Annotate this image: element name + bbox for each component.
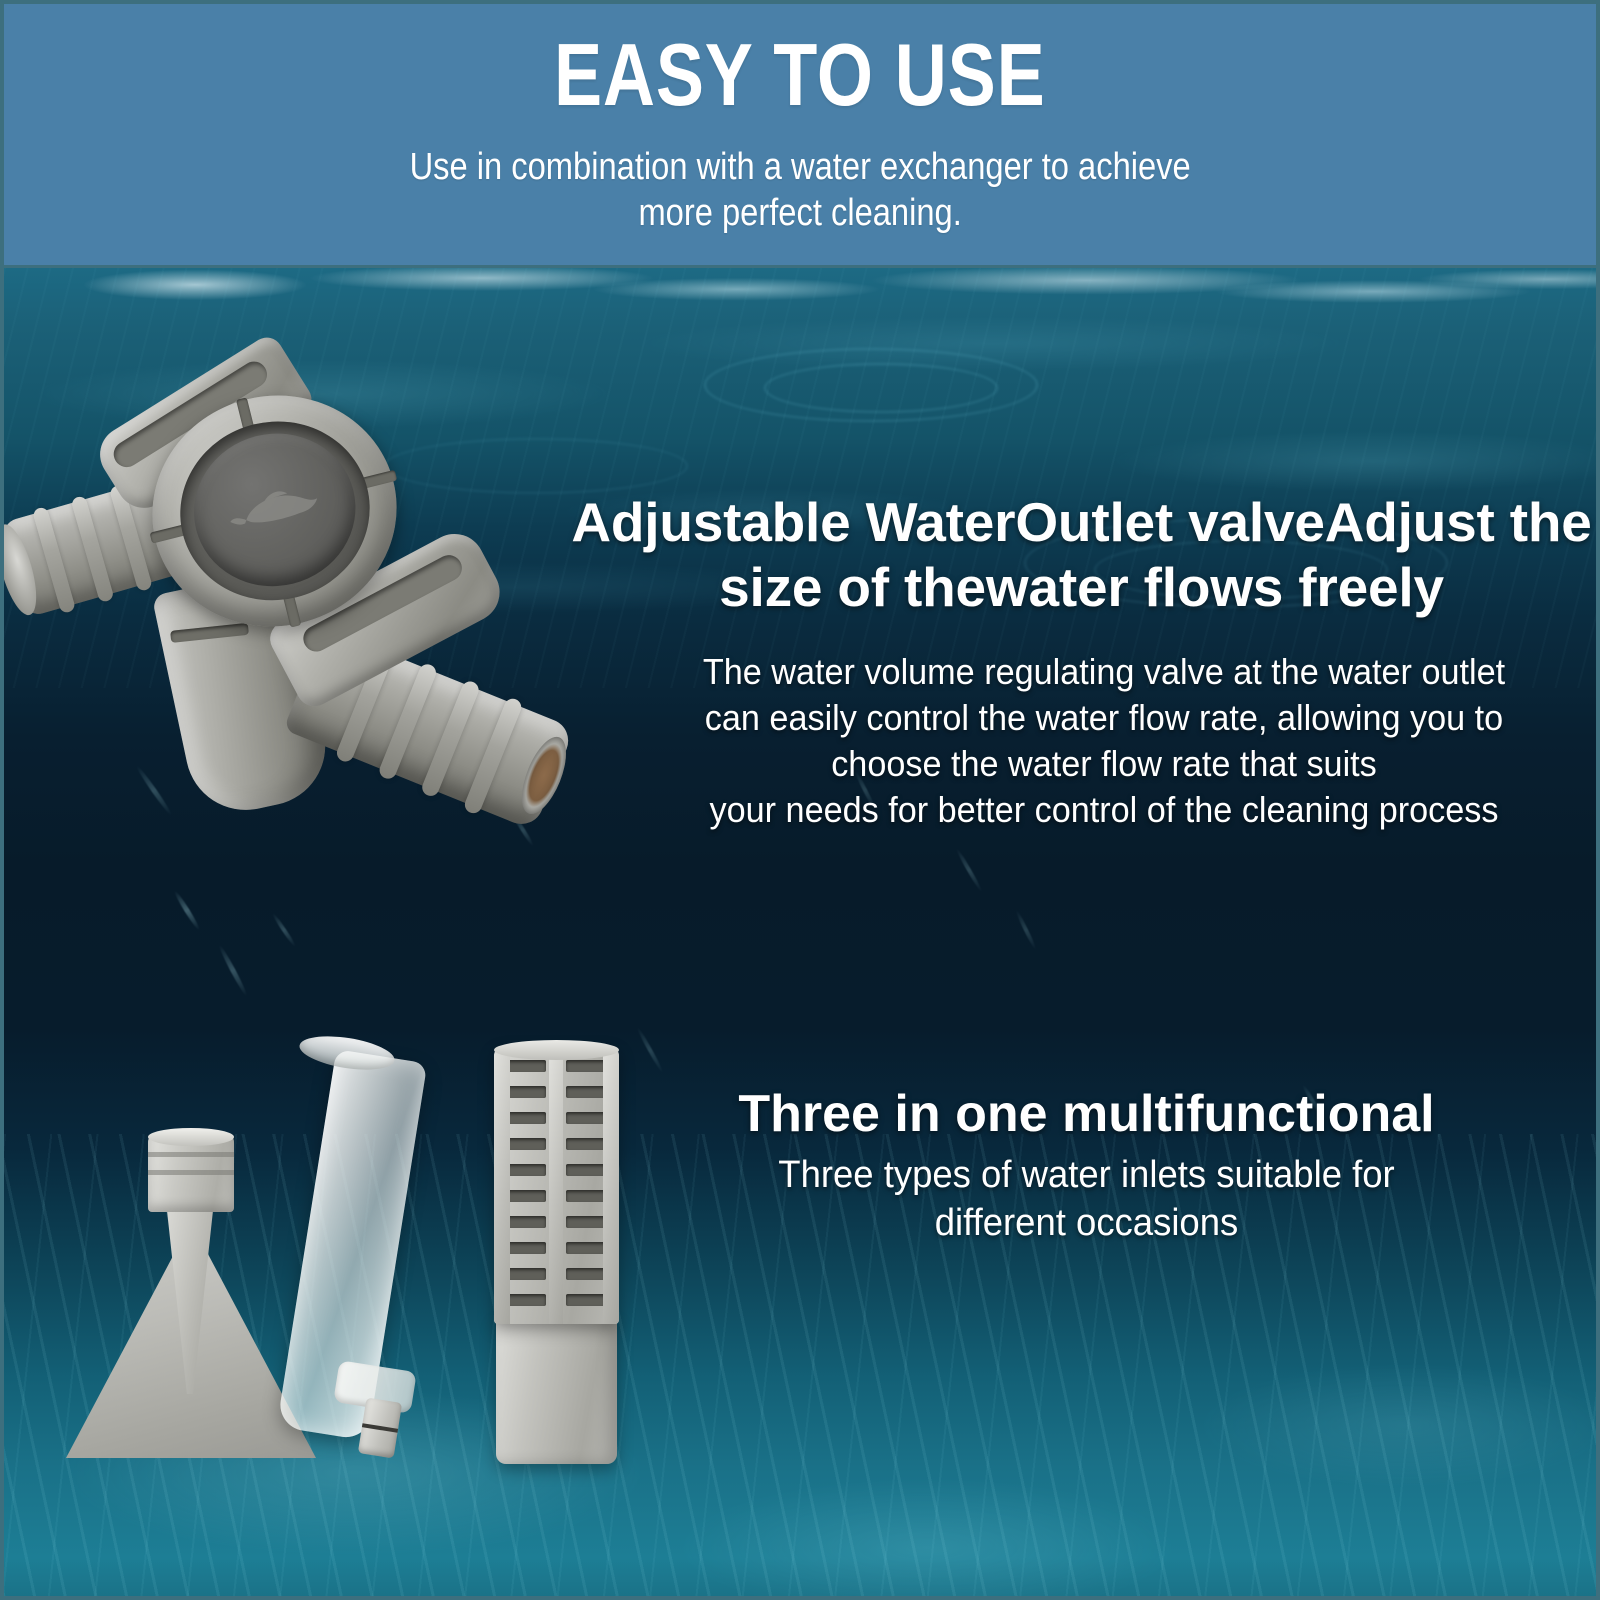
section-body-adjustable-valve: The water volume regulating valve at the… [629, 649, 1579, 833]
adjustable-valve-product-image [4, 374, 584, 874]
valve-hub-recess [161, 402, 388, 621]
section-heading-three-in-one: Three in one multifunctional [704, 1084, 1469, 1144]
banner-subtitle: Use in combination with a water exchange… [409, 144, 1190, 237]
section-heading-adjustable-valve: Adjustable WaterOutlet valveAdjust the s… [564, 490, 1599, 620]
section-body-three-in-one: Three types of water inlets suitable for… [719, 1152, 1453, 1248]
fish-icon [223, 478, 326, 542]
attachment-triangular-flat-nozzle [66, 1110, 316, 1460]
attachment-slotted-strainer-cage [494, 1046, 619, 1464]
banner-title: EASY TO USE [554, 30, 1046, 120]
product-infographic: Adjustable WaterOutlet valveAdjust the s… [0, 0, 1600, 1600]
three-attachments-product-image [44, 1014, 704, 1464]
header-banner: EASY TO USE Use in combination with a wa… [4, 4, 1596, 268]
valve-cap [178, 417, 372, 604]
